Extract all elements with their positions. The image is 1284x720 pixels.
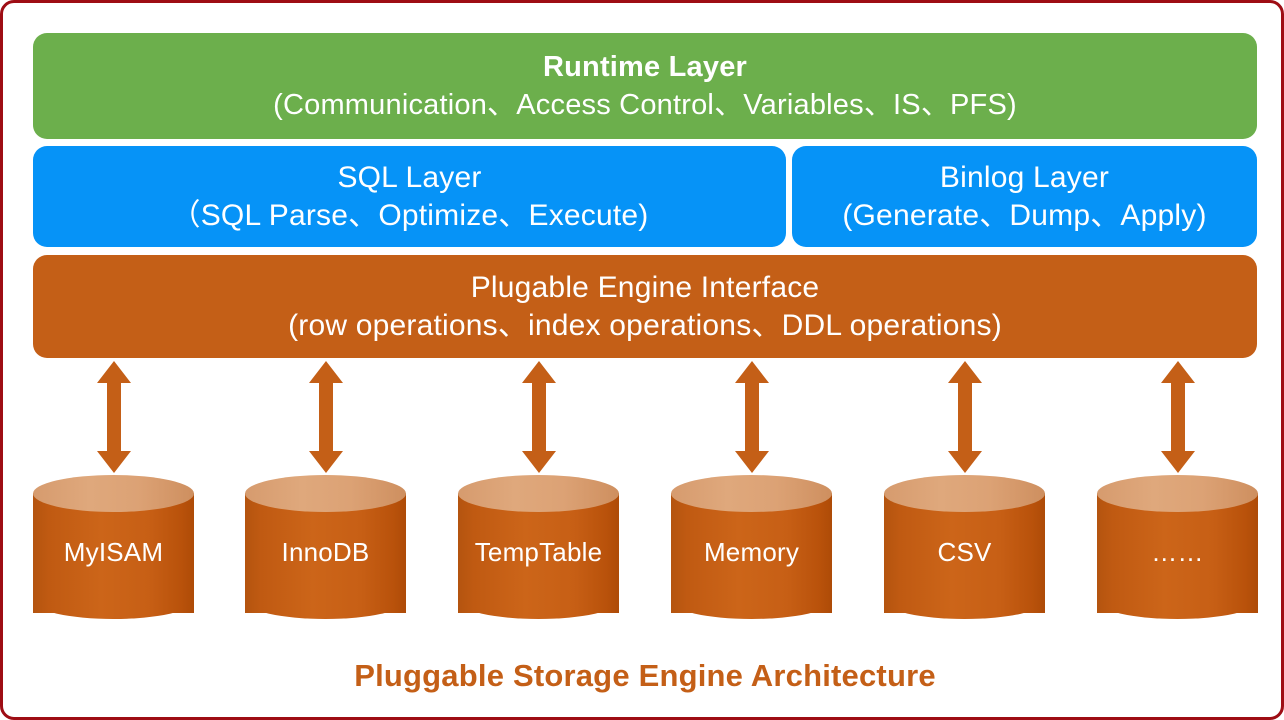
cylinder-icon (245, 475, 406, 630)
diagram-canvas: Runtime Layer (Communication、Access Cont… (0, 0, 1284, 720)
binlog-layer-detail: (Generate、Dump、Apply) (842, 198, 1206, 233)
engine-interface-title: Plugable Engine Interface (471, 270, 820, 305)
sql-layer-detail: （SQL Parse、Optimize、Execute) (171, 198, 649, 233)
storage-engine-innodb[interactable]: InnoDB (245, 475, 406, 630)
binlog-layer-title: Binlog Layer (940, 160, 1109, 195)
runtime-layer-band: Runtime Layer (Communication、Access Cont… (33, 33, 1257, 139)
binlog-layer-band: Binlog Layer (Generate、Dump、Apply) (792, 146, 1257, 247)
cylinder-top (458, 475, 619, 512)
double-headed-arrow-icon (309, 361, 343, 473)
diagram-caption: Pluggable Storage Engine Architecture (3, 658, 1284, 694)
cylinder-top (1097, 475, 1258, 512)
storage-engine-myisam[interactable]: MyISAM (33, 475, 194, 630)
storage-engine-csv[interactable]: CSV (884, 475, 1045, 630)
double-headed-arrow-icon (97, 361, 131, 473)
plugable-engine-interface-band: Plugable Engine Interface (row operation… (33, 255, 1257, 358)
storage-engine-memory[interactable]: Memory (671, 475, 832, 630)
engine-interface-detail: (row operations、index operations、DDL ope… (288, 308, 1002, 343)
cylinder-icon (458, 475, 619, 630)
sql-layer-band: SQL Layer （SQL Parse、Optimize、Execute) (33, 146, 786, 247)
connector-more (1161, 361, 1195, 473)
double-headed-arrow-icon (522, 361, 556, 473)
storage-engine-more[interactable]: …… (1097, 475, 1258, 630)
cylinder-icon (671, 475, 832, 630)
connector-csv (948, 361, 982, 473)
cylinder-top (884, 475, 1045, 512)
cylinder-icon (884, 475, 1045, 630)
runtime-layer-title: Runtime Layer (543, 50, 747, 84)
connector-memory (735, 361, 769, 473)
double-headed-arrow-icon (1161, 361, 1195, 473)
cylinder-icon (1097, 475, 1258, 630)
double-headed-arrow-icon (735, 361, 769, 473)
connector-innodb (309, 361, 343, 473)
cylinder-icon (33, 475, 194, 630)
double-headed-arrow-icon (948, 361, 982, 473)
connector-myisam (97, 361, 131, 473)
sql-layer-title: SQL Layer (337, 160, 481, 195)
cylinder-top (671, 475, 832, 512)
storage-engine-temp-table[interactable]: TempTable (458, 475, 619, 630)
cylinder-top (245, 475, 406, 512)
connector-temp-table (522, 361, 556, 473)
runtime-layer-detail: (Communication、Access Control、Variables、… (273, 88, 1017, 122)
cylinder-top (33, 475, 194, 512)
